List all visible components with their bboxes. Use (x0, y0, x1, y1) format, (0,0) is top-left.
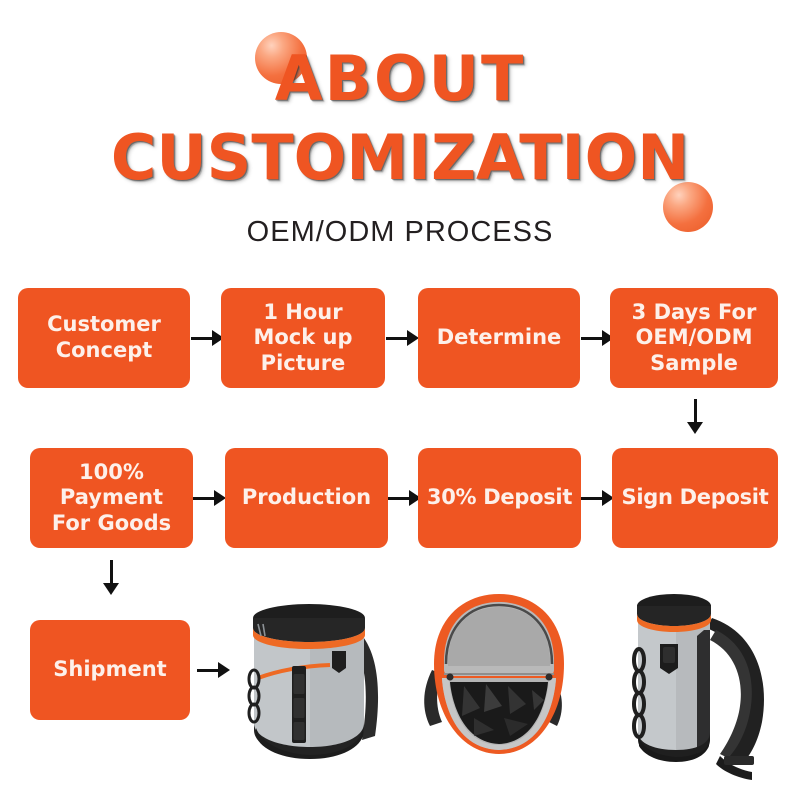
arrow-right-icon (196, 659, 230, 681)
product-image-cooler-backpack-open (404, 578, 594, 798)
flow-step-deposit-30: 30% Deposit (418, 448, 581, 548)
flow-step-payment-for-goods: 100% Payment For Goods (30, 448, 193, 548)
flow-step-customer-concept: Customer Concept (18, 288, 190, 388)
arrow-down-icon (100, 560, 122, 596)
arrow-right-icon (580, 327, 614, 349)
product-image-cooler-backpack-side (604, 560, 800, 800)
flow-step-determine: Determine (418, 288, 580, 388)
promotional-infographic: ABOUT CUSTOMIZATION OEM/ODM PROCESS Cust… (0, 0, 800, 800)
arrow-down-icon (684, 399, 706, 435)
flow-step-shipment: Shipment (30, 620, 190, 720)
arrow-right-icon (192, 487, 226, 509)
flow-step-oem-odm-sample: 3 Days For OEM/ODM Sample (610, 288, 778, 388)
flow-step-production: Production (225, 448, 388, 548)
arrow-right-icon (580, 487, 614, 509)
flow-step-sign-deposit: Sign Deposit (612, 448, 778, 548)
flow-step-mockup-picture: 1 Hour Mock up Picture (221, 288, 385, 388)
product-image-cooler-backpack-closed (232, 578, 422, 798)
arrow-right-icon (190, 327, 224, 349)
arrow-right-icon (387, 487, 421, 509)
page-subtitle: OEM/ODM PROCESS (0, 216, 800, 249)
page-title-line-1: ABOUT (0, 42, 800, 115)
arrow-right-icon (385, 327, 419, 349)
page-title-line-2: CUSTOMIZATION (0, 121, 800, 194)
